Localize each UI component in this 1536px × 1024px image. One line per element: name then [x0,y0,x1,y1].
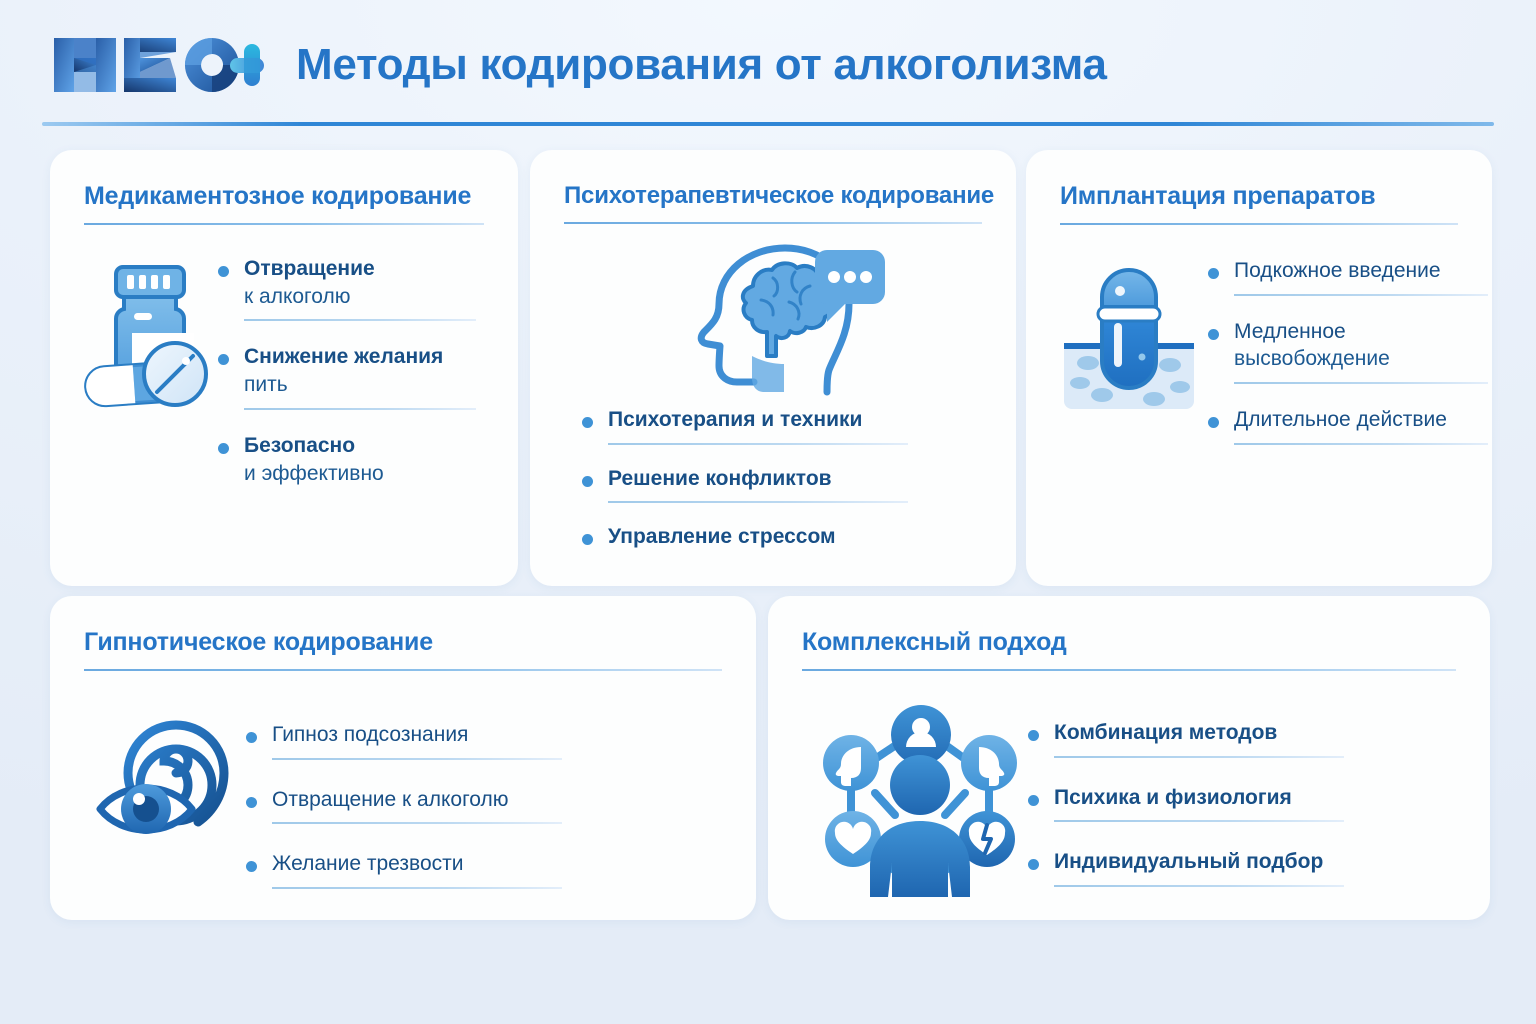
cards-row-bottom: Гипнотическое кодирование [0,596,1536,926]
list-item: Решение конфликтов [582,465,1016,504]
logo-plus-icon [230,44,264,86]
list-item-line1: Желание трезвости [272,850,756,878]
bullet-dot-icon [582,476,593,487]
list-item-line1: Психотерапия и техники [608,406,1016,434]
list-item-line1: Управление стрессом [608,523,1016,551]
card-title-divider [84,223,484,225]
list-item-line2: пить [244,371,492,399]
card-implantation[interactable]: Имплантация препаратов [1026,150,1492,586]
list-item: Желание трезвости [246,850,756,889]
list-item-divider [608,443,908,445]
list-item-line2: высвобождение [1234,345,1488,373]
list-item-divider [1054,756,1344,758]
logo-letter-h [54,38,116,92]
node-head-left-icon [823,735,879,791]
benefit-list: Подкожное введение Медленное высвобожден… [1208,251,1492,467]
bullet-dot-icon [246,861,257,872]
subdermal-capsule-icon [1026,251,1208,467]
list-item-line1: Медленное [1234,318,1488,346]
list-item-divider [272,887,562,889]
list-item-line2: к алкоголю [244,283,492,311]
card-title: Психотерапевтическое кодирование [564,182,1016,210]
list-item-divider [1234,294,1488,296]
card-title: Комплексный подход [802,628,1490,657]
card-medication-coding[interactable]: Медикаментозное кодирование [50,150,518,586]
bullet-dot-icon [1208,417,1219,428]
list-item-divider [244,319,476,321]
bullet-dot-icon [1208,268,1219,279]
bullet-dot-icon [246,732,257,743]
list-item-divider [1054,820,1344,822]
list-item: Индивидуальный подбор [1028,848,1490,887]
head-brain-speech-icon [530,224,1016,398]
card-psychotherapy-coding[interactable]: Психотерапевтическое кодирование [530,150,1016,586]
list-item-line1: Отвращение к алкоголю [272,786,756,814]
list-item-divider [1234,382,1488,384]
list-item: Отвращение к алкоголю [246,786,756,825]
list-item: Управление стрессом [582,523,1016,551]
hypnosis-eye-spiral-icon [50,697,246,915]
list-item-line1: Психика и физиология [1054,784,1490,812]
cards-row-top: Медикаментозное кодирование [0,150,1536,590]
list-item-divider [272,758,562,760]
bullet-dot-icon [1028,795,1039,806]
bullet-dot-icon [1208,329,1219,340]
list-item-line1: Гипноз подсознания [272,721,756,749]
benefit-list: Комбинация методов Психика и физиология … [1028,691,1490,913]
list-item: Гипноз подсознания [246,721,756,760]
list-item-line1: Комбинация методов [1054,719,1490,747]
list-item-divider [1054,885,1344,887]
list-item-divider [272,822,562,824]
list-item-line1: Безопасно [244,432,492,460]
bullet-dot-icon [582,417,593,428]
neo-plus-logo [52,34,264,96]
card-title: Медикаментозное кодирование [84,182,518,211]
bullet-dot-icon [246,797,257,808]
list-item-line1: Подкожное введение [1234,257,1488,285]
list-item-divider [1234,443,1488,445]
list-item-divider [608,501,908,503]
list-item-divider [244,408,476,410]
list-item: Подкожное введение [1208,257,1488,296]
list-item: Психотерапия и техники [582,406,1016,445]
list-item: Психика и физиология [1028,784,1490,823]
card-title-divider [802,669,1456,671]
page-header: Методы кодирования от алкоголизма [0,0,1536,130]
people-network-icon [768,691,1028,913]
list-item: Комбинация методов [1028,719,1490,758]
benefit-list: Психотерапия и техники Решение конфликто… [530,398,1016,551]
bullet-dot-icon [218,266,229,277]
header-divider [42,122,1494,126]
list-item: Безопасно и эффективно [218,432,492,487]
list-item-line1: Отвращение [244,255,492,283]
bullet-dot-icon [582,534,593,545]
logo-letter-e [124,38,176,92]
page-title: Методы кодирования от алкоголизма [296,40,1107,90]
infographic-page: Методы кодирования от алкоголизма Медика… [0,0,1536,1024]
card-complex-approach[interactable]: Комплексный подход [768,596,1490,920]
list-item: Медленное высвобождение [1208,318,1488,384]
benefit-list: Гипноз подсознания Отвращение к алкоголю… [246,697,756,915]
card-title: Имплантация препаратов [1060,182,1492,211]
bullet-dot-icon [1028,859,1039,870]
bullet-dot-icon [218,354,229,365]
list-item: Отвращение к алкоголю [218,255,492,321]
list-item: Снижение желания пить [218,343,492,409]
central-person-icon [870,755,970,897]
bullet-dot-icon [1028,730,1039,741]
bullet-dot-icon [218,443,229,454]
node-head-right-icon [961,735,1017,791]
card-hypnotic-coding[interactable]: Гипнотическое кодирование [50,596,756,920]
benefit-list: Отвращение к алкоголю Снижение желания п… [218,247,518,509]
list-item-line1: Индивидуальный подбор [1054,848,1490,876]
list-item-line1: Длительное действие [1234,406,1488,434]
list-item: Длительное действие [1208,406,1488,445]
card-title: Гипнотическое кодирование [84,628,756,657]
list-item-line1: Решение конфликтов [608,465,1016,493]
list-item-line1: Снижение желания [244,343,492,371]
list-item-line2: и эффективно [244,460,492,488]
pill-bottle-icon [50,247,218,509]
card-title-divider [1060,223,1458,225]
card-title-divider [84,669,722,671]
